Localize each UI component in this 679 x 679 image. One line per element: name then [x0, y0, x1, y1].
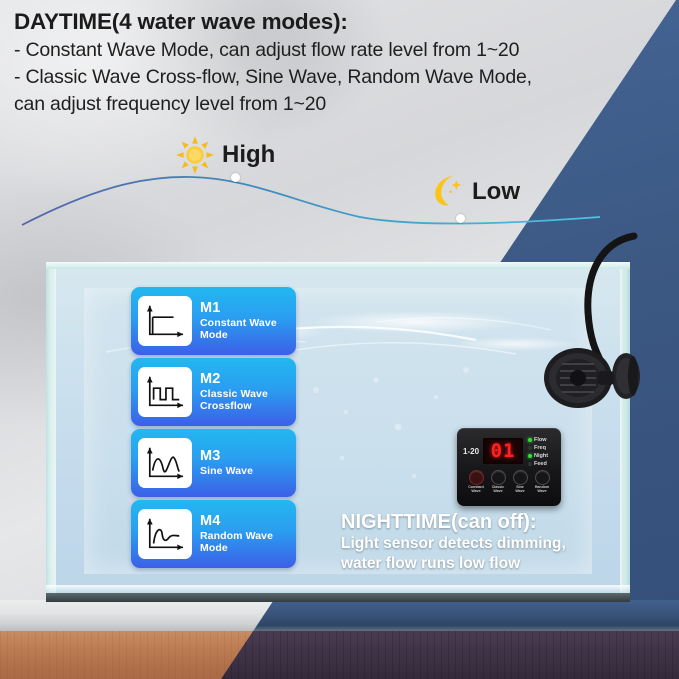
knob-icon: [491, 470, 506, 485]
nighttime-title: NIGHTTIME(can off):: [341, 510, 641, 534]
tank-bottom-rim: [46, 585, 630, 593]
pump-power-cable: [588, 236, 634, 368]
indicator-label: Flow: [534, 437, 547, 443]
nighttime-text-block: NIGHTTIME(can off): Light sensor detects…: [341, 510, 641, 574]
pump-body: [544, 348, 614, 408]
button-label: Classic Wave: [492, 486, 505, 494]
knob-icon: [535, 470, 550, 485]
mode-code: M3: [200, 448, 253, 464]
header-line-3: can adjust frequency level from 1~20: [14, 91, 634, 118]
tank-base-trim: [46, 593, 630, 602]
sine-wave-graph-icon: [138, 438, 192, 488]
low-label: Low: [472, 178, 520, 206]
mode-code: M1: [200, 300, 277, 316]
range-label: 1-20: [463, 447, 479, 456]
header-title: DAYTIME(4 water wave modes):: [14, 8, 634, 37]
indicator-feed: Feed: [528, 460, 548, 467]
mode-card-m2[interactable]: M2 Classic Wave Crossflow: [131, 358, 296, 426]
curve-point-low: [456, 214, 465, 223]
header-line-2: - Classic Wave Cross-flow, Sine Wave, Ra…: [14, 64, 634, 91]
mode-desc: Classic Wave Crossflow: [200, 389, 268, 413]
day-night-curve-diagram: High Low: [0, 120, 679, 245]
indicator-label: Night: [534, 453, 548, 459]
mode-desc: Random Wave Mode: [200, 531, 273, 555]
header-line-1: - Constant Wave Mode, can adjust flow ra…: [14, 37, 634, 64]
knob-icon: [469, 470, 484, 485]
random-wave-graph-icon: [138, 509, 192, 559]
mode-card-m4[interactable]: M4 Random Wave Mode: [131, 500, 296, 568]
indicator-flow: Flow: [528, 436, 548, 443]
led-flow-icon: [528, 438, 532, 442]
led-display: 01: [483, 438, 523, 464]
button-constant-wave[interactable]: Constant Wave: [466, 470, 487, 494]
product-infographic: DAYTIME(4 water wave modes): - Constant …: [0, 0, 679, 679]
mode-code: M2: [200, 371, 268, 387]
display-value: 01: [491, 442, 516, 461]
button-random-wave[interactable]: Random Wave: [532, 470, 553, 494]
square-wave-graph-icon: [138, 367, 192, 417]
led-freq-icon: [528, 446, 532, 450]
pump-magnet-mount: [612, 353, 640, 399]
intensity-curve: [0, 120, 679, 245]
nighttime-line-1: Light sensor detects dimming,: [341, 534, 641, 554]
sun-icon: [176, 136, 214, 174]
moon-icon: [428, 172, 464, 208]
button-classic-wave[interactable]: Classic Wave: [488, 470, 509, 494]
button-sine-wave[interactable]: Sine Wave: [510, 470, 531, 494]
indicator-led-group: Flow Freq Night Feed: [528, 435, 548, 467]
high-label: High: [222, 141, 275, 169]
nighttime-line-2: water flow runs low flow: [341, 554, 641, 574]
indicator-label: Feed: [534, 461, 547, 467]
wave-pump-controller[interactable]: 1-20 01 Flow Freq Night: [457, 428, 561, 506]
mode-desc: Sine Wave: [200, 466, 253, 478]
button-label: Constant Wave: [468, 486, 484, 494]
constant-wave-graph-icon: [138, 296, 192, 346]
mode-card-m1[interactable]: M1 Constant Wave Mode: [131, 287, 296, 355]
mode-desc: Constant Wave Mode: [200, 318, 277, 342]
wave-mode-card-list: M1 Constant Wave Mode M2 Classic Wave Cr…: [131, 287, 296, 571]
daytime-header-text: DAYTIME(4 water wave modes): - Constant …: [14, 8, 634, 118]
button-label: Sine Wave: [515, 486, 524, 494]
led-feed-icon: [528, 462, 532, 466]
led-night-icon: [528, 454, 532, 458]
controller-button-row: Constant Wave Classic Wave Sine Wave Ran…: [463, 470, 555, 494]
mode-card-m3[interactable]: M3 Sine Wave: [131, 429, 296, 497]
indicator-label: Freq: [534, 445, 546, 451]
knob-icon: [513, 470, 528, 485]
indicator-freq: Freq: [528, 444, 548, 451]
mode-code: M4: [200, 513, 273, 529]
tank-glass-left: [46, 262, 56, 602]
button-label: Random Wave: [535, 486, 549, 494]
indicator-night: Night: [528, 452, 548, 459]
curve-point-high: [231, 173, 240, 182]
wave-pump-device: [516, 228, 666, 413]
